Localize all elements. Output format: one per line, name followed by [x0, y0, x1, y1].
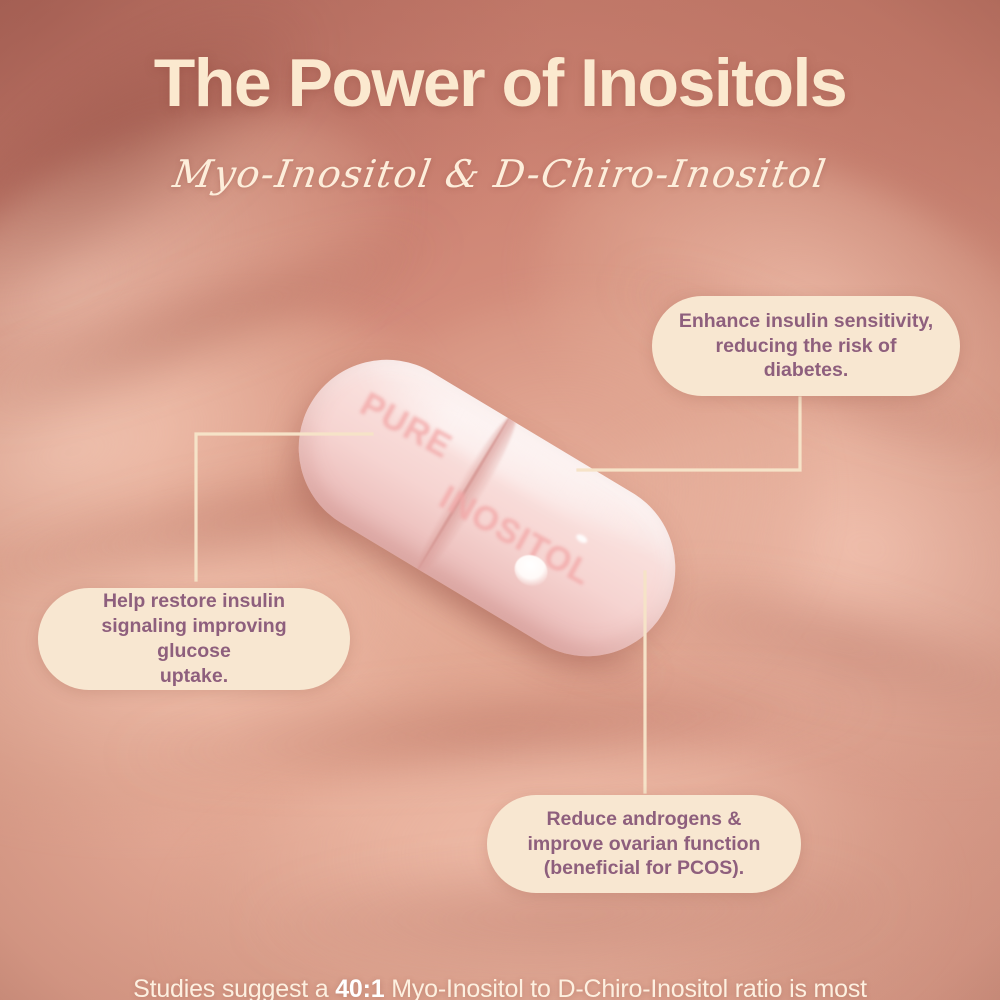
- footnote-prefix: Studies suggest a: [133, 975, 335, 1000]
- page-title: The Power of Inositols: [0, 48, 1000, 119]
- callout-reduce-androgens: Reduce androgens & improve ovarian funct…: [487, 795, 801, 893]
- callout-line: (beneficial for PCOS).: [544, 857, 744, 879]
- callout-line: diabetes.: [764, 359, 849, 381]
- callout-text: Enhance insulin sensitivity, reducing th…: [679, 309, 933, 384]
- page-subtitle: Myo-Inositol & D-Chiro-Inositol: [0, 152, 1000, 196]
- callout-line: Help restore insulin: [103, 590, 285, 612]
- callout-enhance-insulin-sensitivity: Enhance insulin sensitivity, reducing th…: [652, 296, 960, 396]
- inositol-infographic-poster: PURE INOSITOL The Power of Inositols Myo…: [0, 0, 1000, 1000]
- footnote: Studies suggest a 40:1 Myo-Inositol to D…: [0, 975, 1000, 1000]
- capsule-pill: PURE INOSITOL: [282, 362, 700, 650]
- footnote-suffix: Myo-Inositol to D-Chiro-Inositol ratio i…: [384, 975, 866, 1000]
- callout-line: signaling improving glucose: [101, 615, 286, 662]
- callout-text: Reduce androgens & improve ovarian funct…: [528, 807, 761, 882]
- callout-line: Reduce androgens &: [546, 808, 741, 830]
- callout-line: reducing the risk of: [716, 335, 897, 357]
- callout-line: improve ovarian function: [528, 833, 761, 855]
- footnote-ratio: 40:1: [335, 975, 384, 1000]
- callout-text: Help restore insulin signaling improving…: [64, 589, 324, 689]
- callout-restore-insulin-signaling: Help restore insulin signaling improving…: [38, 588, 350, 690]
- callout-line: Enhance insulin sensitivity,: [679, 310, 933, 332]
- callout-line: uptake.: [160, 665, 228, 687]
- capsule-highlight-small: [575, 533, 589, 545]
